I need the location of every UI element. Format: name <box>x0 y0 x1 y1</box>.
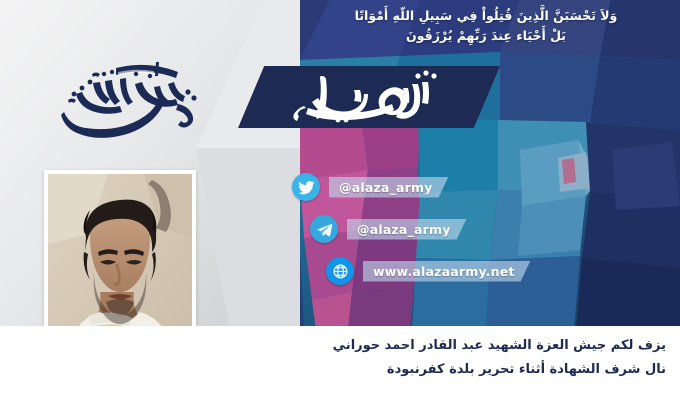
twitter-handle[interactable]: @alaza_army <box>329 177 449 198</box>
social-row-twitter[interactable]: @alaza_army <box>292 172 449 202</box>
twitter-icon[interactable] <box>292 173 320 201</box>
martyrdom-poster: وَلاَ تَحْسَبَنَّ الَّذِينَ قُتِلُواْ فِ… <box>0 0 680 400</box>
quran-verse: وَلاَ تَحْسَبَنَّ الَّذِينَ قُتِلُواْ فِ… <box>300 6 672 47</box>
footer-panel: يزف لكم جيش العزة الشهيد عبد القادر احمد… <box>0 326 680 400</box>
announcement-text: يزف لكم جيش العزة الشهيد عبد القادر احمد… <box>246 334 666 382</box>
telegram-icon[interactable] <box>310 215 338 243</box>
announcement-line-1: يزف لكم جيش العزة الشهيد عبد القادر احمد… <box>246 334 666 358</box>
social-row-website[interactable]: www.alazaarmy.net <box>326 256 531 286</box>
social-links: @alaza_army @alaza_army www.alazaarm <box>292 172 592 296</box>
announcement-line-2: نال شرف الشهادة أثناء تحرير بلدة كفرنبود… <box>246 358 666 382</box>
globe-icon[interactable] <box>326 257 354 285</box>
army-logo-icon <box>38 52 208 138</box>
telegram-handle[interactable]: @alaza_army <box>347 219 467 240</box>
website-url[interactable]: www.alazaarmy.net <box>363 261 531 282</box>
social-row-telegram[interactable]: @alaza_army <box>310 214 467 244</box>
shaheed-calligraphy-icon <box>268 62 478 132</box>
verse-line-1: وَلاَ تَحْسَبَنَّ الَّذِينَ قُتِلُواْ فِ… <box>300 6 672 26</box>
shaheed-word <box>268 62 478 132</box>
verse-line-2: بَلْ أَحْيَاء عِندَ رَبِّهِمْ يُرْزَقُون… <box>300 26 672 46</box>
army-logo <box>38 52 208 138</box>
